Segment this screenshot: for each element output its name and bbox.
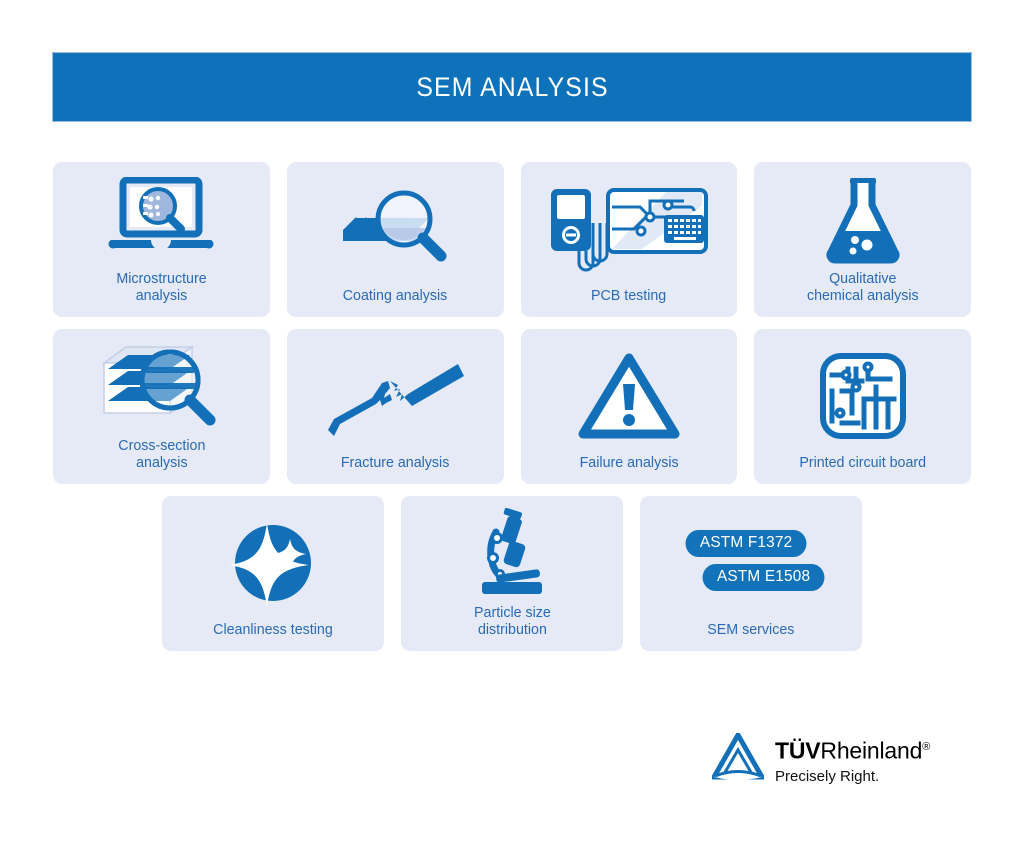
warning-triangle-icon xyxy=(521,337,738,454)
microscope-icon xyxy=(401,504,623,604)
erlenmeyer-flask-icon xyxy=(754,170,971,270)
card-label: Qualitative chemical analysis xyxy=(799,270,926,317)
card-label: Cleanliness testing xyxy=(206,621,341,651)
sparkle-shine-icon xyxy=(162,504,384,621)
card-row-2: Cross-section analysis Fracture analysis xyxy=(53,329,971,484)
card-qualitative-chemical-analysis[interactable]: Qualitative chemical analysis xyxy=(754,162,971,317)
card-label: Fracture analysis xyxy=(333,454,457,484)
fractured-bar-icon xyxy=(287,337,504,454)
card-row-1: Microstructure analysis xyxy=(53,162,971,317)
multimeter-pcb-icon xyxy=(521,170,738,287)
card-cleanliness-testing[interactable]: Cleanliness testing xyxy=(162,496,384,651)
circuit-board-icon xyxy=(754,337,971,454)
card-printed-circuit-board[interactable]: Printed circuit board xyxy=(754,329,971,484)
card-label: Failure analysis xyxy=(572,454,686,484)
logo-tagline: Precisely Right. xyxy=(775,768,930,785)
logo-brand-bold: TÜV xyxy=(775,738,820,764)
registered-mark-icon: ® xyxy=(922,741,930,753)
layered-block-magnifier-icon xyxy=(53,337,270,437)
logo-brand-name: TÜVRheinland® xyxy=(775,735,930,764)
logo-text-block: TÜVRheinland® Precisely Right. xyxy=(775,733,930,785)
laptop-microstructure-icon xyxy=(53,170,270,270)
logo-brand-regular: Rheinland xyxy=(820,738,922,764)
card-label: Printed circuit board xyxy=(792,454,934,484)
astm-standards-pills: ASTM F1372 ASTM E1508 xyxy=(640,504,862,621)
astm-badge-f1372[interactable]: ASTM F1372 xyxy=(685,530,806,557)
card-failure-analysis[interactable]: Failure analysis xyxy=(521,329,738,484)
card-label: Microstructure analysis xyxy=(109,270,214,317)
astm-badge-e1508[interactable]: ASTM E1508 xyxy=(703,564,825,591)
card-pcb-testing[interactable]: PCB testing xyxy=(521,162,738,317)
infographic-page: SEM ANALYSIS xyxy=(0,0,1024,849)
card-cross-section-analysis[interactable]: Cross-section analysis xyxy=(53,329,270,484)
tuv-triangle-icon xyxy=(712,733,764,788)
card-label: Particle size distribution xyxy=(466,604,558,651)
card-microstructure-analysis[interactable]: Microstructure analysis xyxy=(53,162,270,317)
tuv-rheinland-logo: TÜVRheinland® Precisely Right. xyxy=(712,733,930,788)
card-coating-analysis[interactable]: Coating analysis xyxy=(287,162,504,317)
card-particle-size-distribution[interactable]: Particle size distribution xyxy=(401,496,623,651)
card-label: Coating analysis xyxy=(335,287,455,317)
service-card-grid: Microstructure analysis xyxy=(53,162,971,663)
header-bar: SEM ANALYSIS xyxy=(53,53,971,121)
card-label: PCB testing xyxy=(584,287,674,317)
card-fracture-analysis[interactable]: Fracture analysis xyxy=(287,329,504,484)
magnifier-coating-icon xyxy=(287,170,504,287)
card-row-3: Cleanliness testing xyxy=(53,496,971,651)
card-label: Cross-section analysis xyxy=(110,437,212,484)
card-label: SEM services xyxy=(700,621,802,651)
page-title: SEM ANALYSIS xyxy=(416,72,608,103)
card-sem-services[interactable]: ASTM F1372 ASTM E1508 SEM services xyxy=(640,496,862,651)
